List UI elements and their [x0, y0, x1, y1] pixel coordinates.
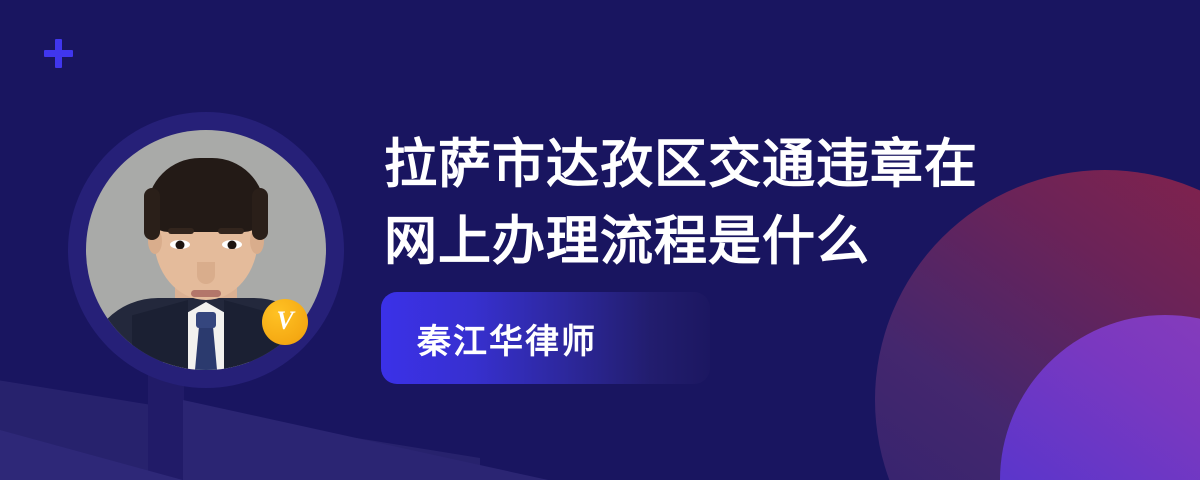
author-name-label: 秦江华律师: [417, 314, 597, 363]
plus-icon: [44, 39, 73, 68]
avatar[interactable]: [68, 112, 344, 388]
author-name-badge[interactable]: 秦江华律师: [381, 292, 710, 384]
page-title-line-2: 网上办理流程是什么: [384, 203, 1084, 280]
decorative-vertical-band: [148, 372, 184, 480]
verified-badge-icon: V: [262, 299, 308, 345]
decorative-circle-violet: [1000, 315, 1200, 480]
verified-badge-glyph: V: [276, 308, 293, 334]
article-cover-banner: V 拉萨市达孜区交通违章在 网上办理流程是什么 秦江华律师: [0, 0, 1200, 480]
page-title: 拉萨市达孜区交通违章在 网上办理流程是什么: [384, 126, 1084, 280]
decorative-wedge-corner: [0, 430, 190, 480]
page-title-line-1: 拉萨市达孜区交通违章在: [384, 126, 1084, 203]
decorative-wedge-right: [183, 400, 603, 480]
